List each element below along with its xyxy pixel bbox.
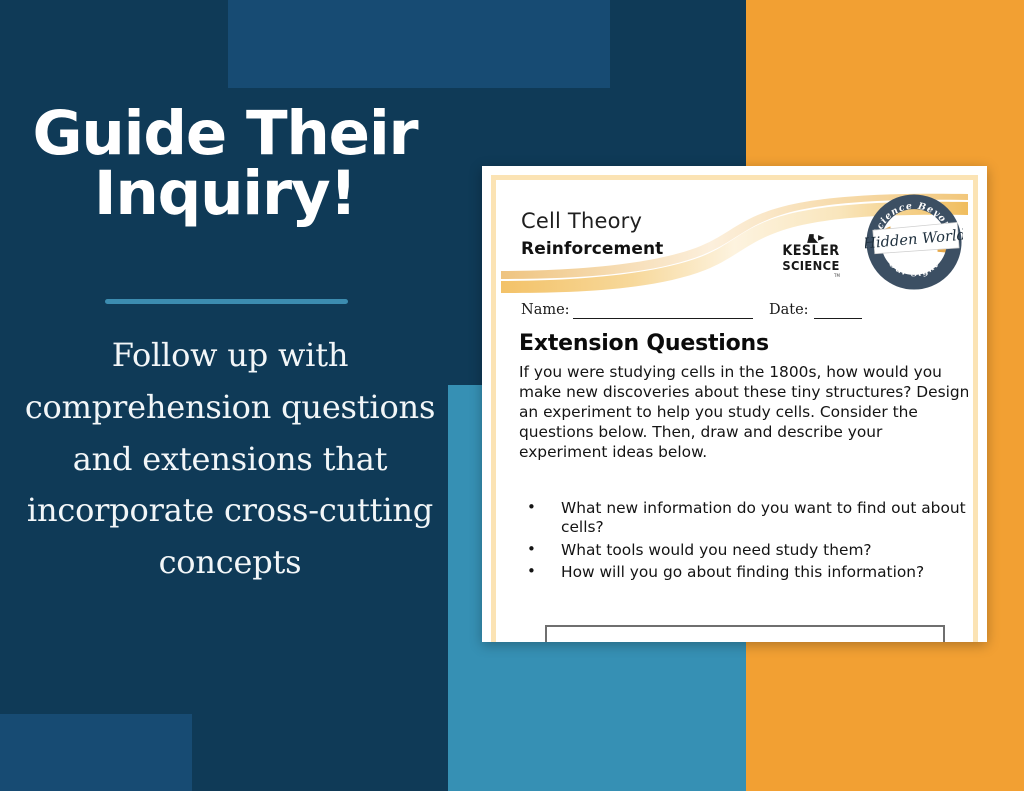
background-teal-bottom bbox=[448, 642, 746, 791]
date-input-line[interactable] bbox=[814, 318, 862, 319]
list-item-label: How will you go about finding this infor… bbox=[561, 563, 924, 581]
worksheet-card: Cell Theory Reinforcement KESLER SCIENCE… bbox=[482, 166, 987, 642]
date-label: Date: bbox=[769, 302, 809, 318]
answer-box[interactable] bbox=[545, 625, 945, 642]
worksheet-subtitle: Reinforcement bbox=[521, 239, 663, 259]
worksheet-page: Cell Theory Reinforcement KESLER SCIENCE… bbox=[501, 185, 968, 642]
kesler-logo-line1: KESLER bbox=[779, 243, 843, 259]
question-list: • What new information do you want to fi… bbox=[523, 499, 968, 586]
section-paragraph: If you were studying cells in the 1800s,… bbox=[519, 362, 968, 462]
title-divider bbox=[105, 299, 348, 304]
left-text-column: Guide Their Inquiry! Follow up with comp… bbox=[0, 0, 460, 791]
kesler-logo-line2: SCIENCE bbox=[779, 258, 843, 273]
list-item-label: What tools would you need study them? bbox=[561, 541, 872, 559]
worksheet-title: Cell Theory bbox=[521, 209, 642, 233]
bullet-icon: • bbox=[527, 562, 536, 581]
hidden-world-badge: Science Beyond Our Sight Hidden World bbox=[865, 193, 963, 291]
bullet-icon: • bbox=[527, 540, 536, 559]
bullet-icon: • bbox=[527, 498, 536, 517]
list-item: • What new information do you want to fi… bbox=[523, 499, 968, 538]
worksheet-inner-border: Cell Theory Reinforcement KESLER SCIENCE… bbox=[491, 175, 978, 642]
section-title: Extension Questions bbox=[519, 331, 769, 356]
page-title: Guide Their Inquiry! bbox=[0, 104, 450, 224]
list-item: • What tools would you need study them? bbox=[523, 541, 968, 560]
list-item: • How will you go about finding this inf… bbox=[523, 563, 968, 582]
name-input-line[interactable] bbox=[573, 318, 753, 319]
slide-canvas: Guide Their Inquiry! Follow up with comp… bbox=[0, 0, 1024, 791]
body-text: Follow up with comprehension questions a… bbox=[18, 330, 442, 589]
list-item-label: What new information do you want to find… bbox=[561, 499, 966, 536]
name-date-row: Name: Date: bbox=[521, 302, 961, 324]
kesler-science-logo: KESLER SCIENCE TM bbox=[776, 235, 846, 279]
worksheet-header: Cell Theory Reinforcement KESLER SCIENCE… bbox=[501, 185, 968, 293]
background-orange-bottom bbox=[746, 642, 1024, 791]
kesler-logo-trademark: TM bbox=[834, 273, 840, 278]
name-label: Name: bbox=[521, 302, 570, 318]
